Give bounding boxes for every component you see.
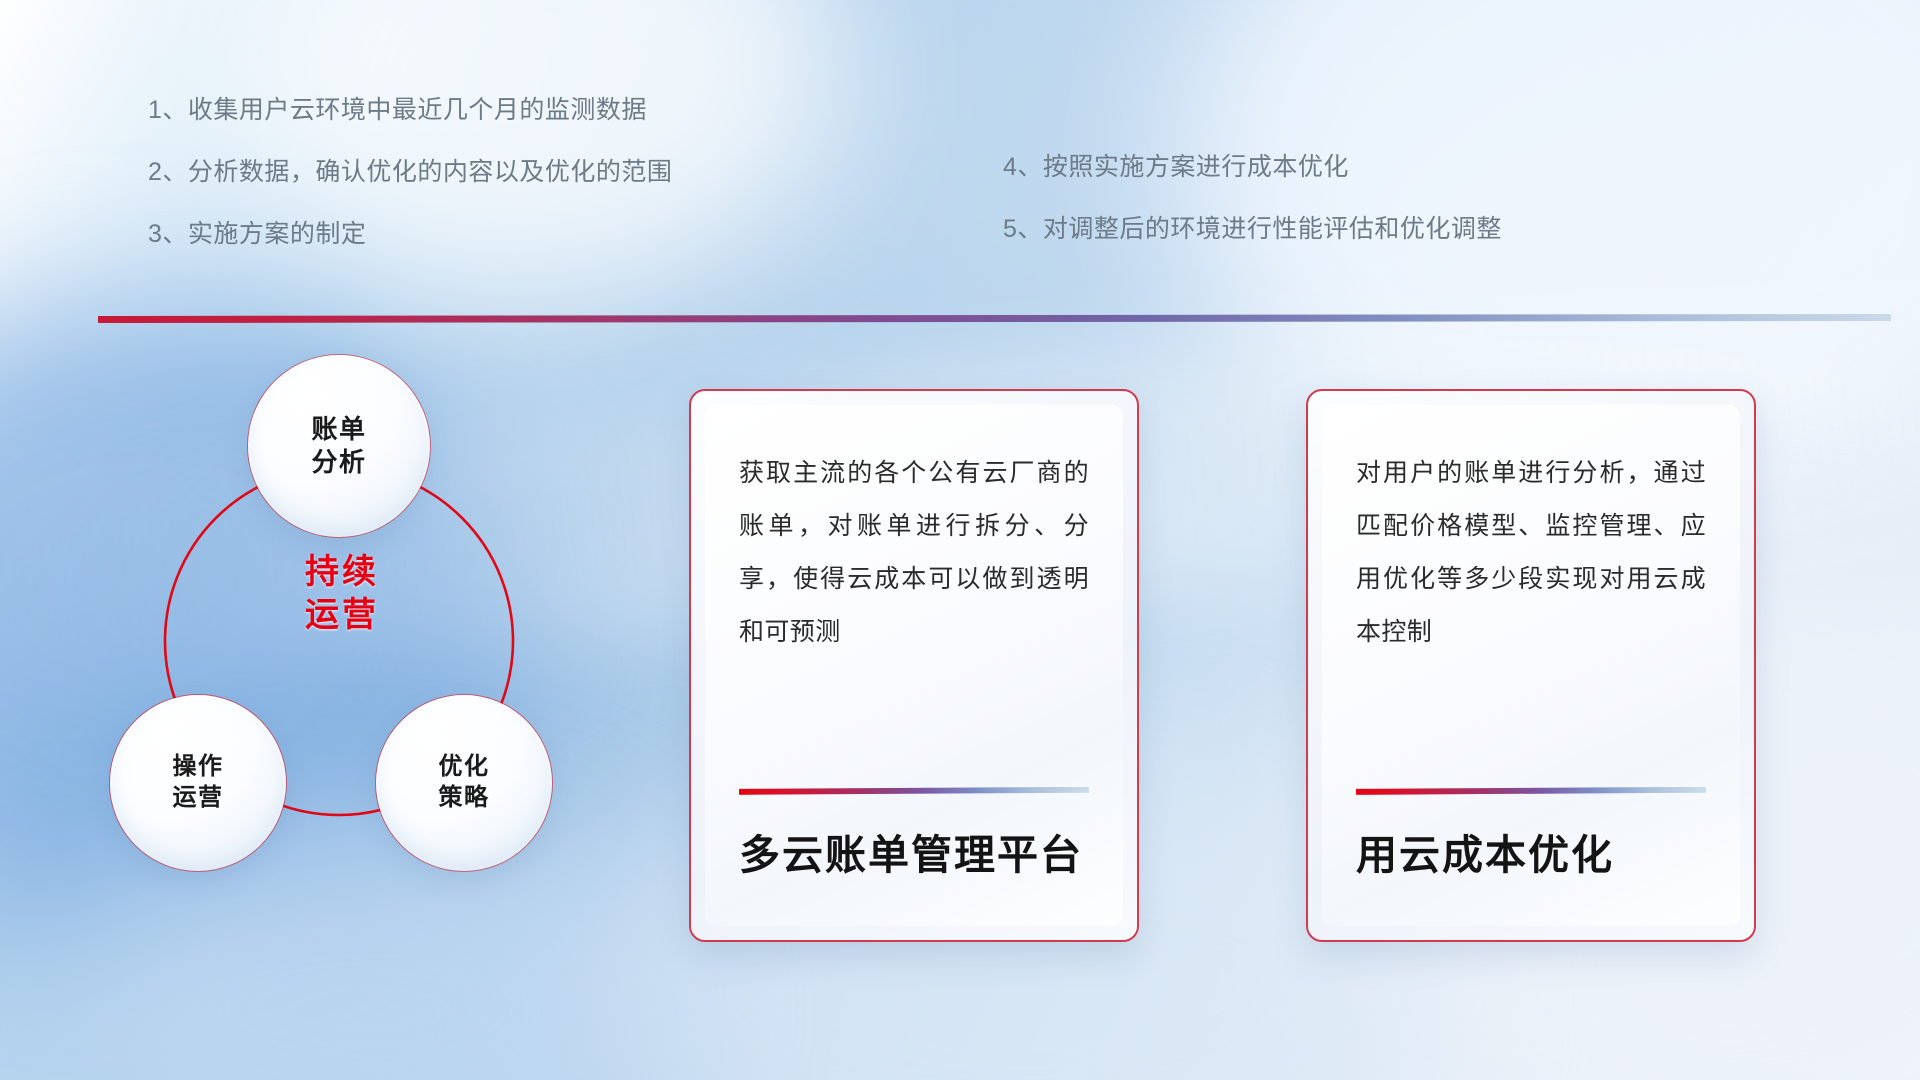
slide-canvas: 1、收集用户云环境中最近几个月的监测数据 2、分析数据，确认优化的内容以及优化的…: [0, 0, 1920, 1080]
steps-list-right: 4、按照实施方案进行成本优化 5、对调整后的环境进行性能评估和优化调整: [1003, 155, 1502, 242]
step-item: 3、实施方案的制定: [148, 222, 672, 247]
feature-card-title: 用云成本优化: [1356, 831, 1706, 898]
venn-bubble-label-line2: 运营: [173, 783, 224, 814]
steps-list-left: 1、收集用户云环境中最近几个月的监测数据 2、分析数据，确认优化的内容以及优化的…: [148, 98, 672, 247]
venn-bubble-label-line1: 账单: [311, 413, 366, 446]
feature-card-inner: 获取主流的各个公有云厂商的账单，对账单进行拆分、分享，使得云成本可以做到透明和可…: [705, 405, 1123, 926]
step-item: 2、分析数据，确认优化的内容以及优化的范围: [148, 160, 672, 185]
feature-card-body: 对用户的账单进行分析，通过匹配价格模型、监控管理、应用优化等多少段实现对用云成本…: [1356, 447, 1706, 659]
feature-card-cloud-cost-optimization[interactable]: 对用户的账单进行分析，通过匹配价格模型、监控管理、应用优化等多少段实现对用云成本…: [1306, 389, 1756, 942]
feature-card-divider: [739, 787, 1089, 795]
venn-center-line2: 运营: [247, 594, 437, 637]
venn-diagram: 账单 分析 操作 运营 优化 策略 持续 运营: [100, 355, 620, 915]
venn-center-label: 持续 运营: [247, 551, 437, 637]
feature-card-title: 多云账单管理平台: [739, 831, 1089, 898]
venn-bubble-operations[interactable]: 操作 运营: [110, 695, 286, 871]
venn-bubble-optimization-strategy[interactable]: 优化 策略: [376, 695, 552, 871]
header-divider: [98, 314, 1891, 323]
feature-card-multi-cloud-bill-platform[interactable]: 获取主流的各个公有云厂商的账单，对账单进行拆分、分享，使得云成本可以做到透明和可…: [689, 389, 1139, 942]
venn-center-line1: 持续: [247, 551, 437, 594]
step-item: 5、对调整后的环境进行性能评估和优化调整: [1003, 217, 1502, 242]
feature-card-inner: 对用户的账单进行分析，通过匹配价格模型、监控管理、应用优化等多少段实现对用云成本…: [1322, 405, 1740, 926]
venn-bubble-label-line2: 策略: [439, 783, 490, 814]
feature-card-body: 获取主流的各个公有云厂商的账单，对账单进行拆分、分享，使得云成本可以做到透明和可…: [739, 447, 1089, 659]
step-item: 4、按照实施方案进行成本优化: [1003, 155, 1502, 180]
venn-bubble-bill-analysis[interactable]: 账单 分析: [248, 355, 430, 537]
venn-bubble-label-line2: 分析: [311, 446, 366, 479]
step-item: 1、收集用户云环境中最近几个月的监测数据: [148, 98, 672, 123]
feature-card-divider: [1356, 787, 1706, 795]
venn-bubble-label-line1: 操作: [173, 752, 224, 783]
venn-bubble-label-line1: 优化: [439, 752, 490, 783]
